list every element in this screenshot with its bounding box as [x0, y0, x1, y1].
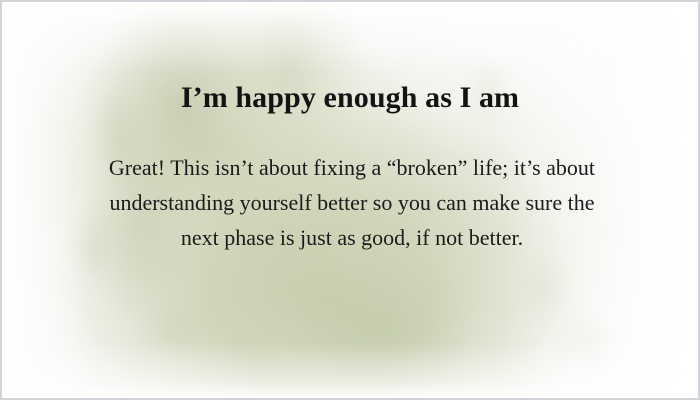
body-paragraph: Great! This isn’t about fixing a “broken… — [90, 150, 614, 255]
page-title: I’m happy enough as I am — [2, 81, 698, 115]
quote-card: I’m happy enough as I am Great! This isn… — [0, 0, 700, 400]
card-content: I’m happy enough as I am Great! This isn… — [2, 2, 698, 398]
